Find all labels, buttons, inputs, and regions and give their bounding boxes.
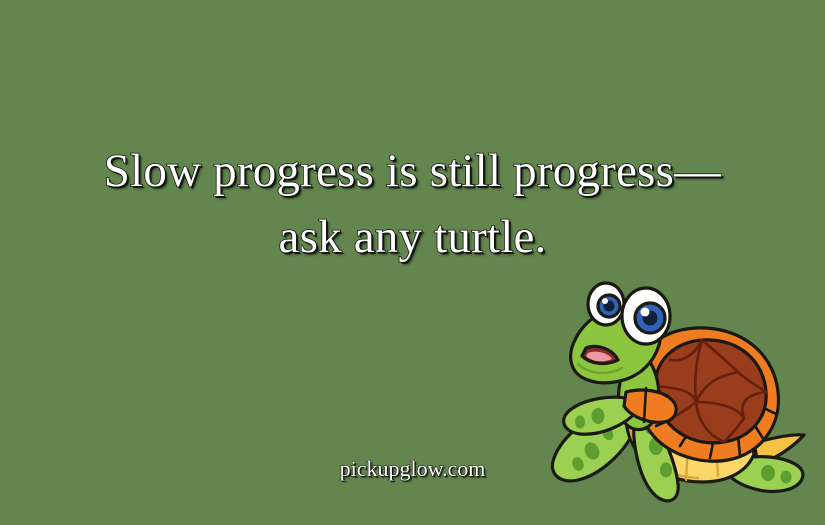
- turtle-eye-far: [588, 283, 624, 325]
- turtle-illustration: [530, 268, 825, 523]
- quote-line-1: Slow progress is still progress—: [0, 138, 825, 204]
- quote-line-2: ask any turtle.: [0, 204, 825, 270]
- quote-card: Slow progress is still progress— ask any…: [0, 0, 825, 525]
- quote-text-block: Slow progress is still progress— ask any…: [0, 138, 825, 270]
- turtle-eye-near: [622, 288, 670, 344]
- turtle-shell: [656, 340, 766, 443]
